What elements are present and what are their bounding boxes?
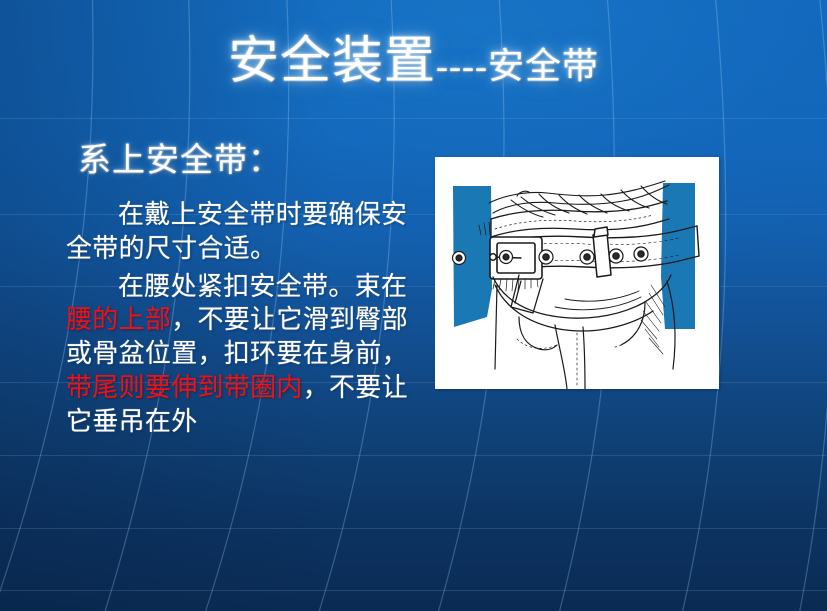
- title-tail: 安全带: [488, 46, 599, 86]
- paragraph: 在腰处紧扣安全带。束在腰的上部，不要让它滑到臀部或骨盆位置，扣环要在身前，带尾则…: [66, 270, 418, 439]
- highlighted-text-segment: 腰的上部: [66, 305, 171, 334]
- section-subheading: 系上安全带：: [78, 142, 282, 182]
- page-title: 安全装置----安全带: [0, 36, 827, 90]
- title-separator: ----: [436, 46, 488, 86]
- body-text-block: 在戴上安全带时要确保安全带的尺寸合适。 在腰处紧扣安全带。束在腰的上部，不要让它…: [66, 198, 418, 439]
- text-segment: 在戴上安全带时要确保安全带的尺寸合适。: [66, 200, 407, 263]
- illustration-panel: [435, 157, 719, 389]
- background-horizontal-line: [0, 590, 827, 591]
- background-horizontal-line: [0, 528, 827, 529]
- background-horizontal-line: [0, 118, 827, 119]
- text-segment: 在腰处紧扣安全带。束在: [118, 272, 407, 301]
- background-horizontal-line: [0, 455, 827, 456]
- slide-canvas: 安全装置----安全带 系上安全带： 在戴上安全带时要确保安全带的尺寸合适。 在…: [0, 0, 827, 611]
- title-main: 安全装置: [228, 34, 436, 90]
- safety-belt-illustration: [435, 157, 719, 389]
- highlighted-text-segment: 带尾则要伸到带圈内: [66, 373, 303, 402]
- paragraph: 在戴上安全带时要确保安全带的尺寸合适。: [66, 198, 418, 266]
